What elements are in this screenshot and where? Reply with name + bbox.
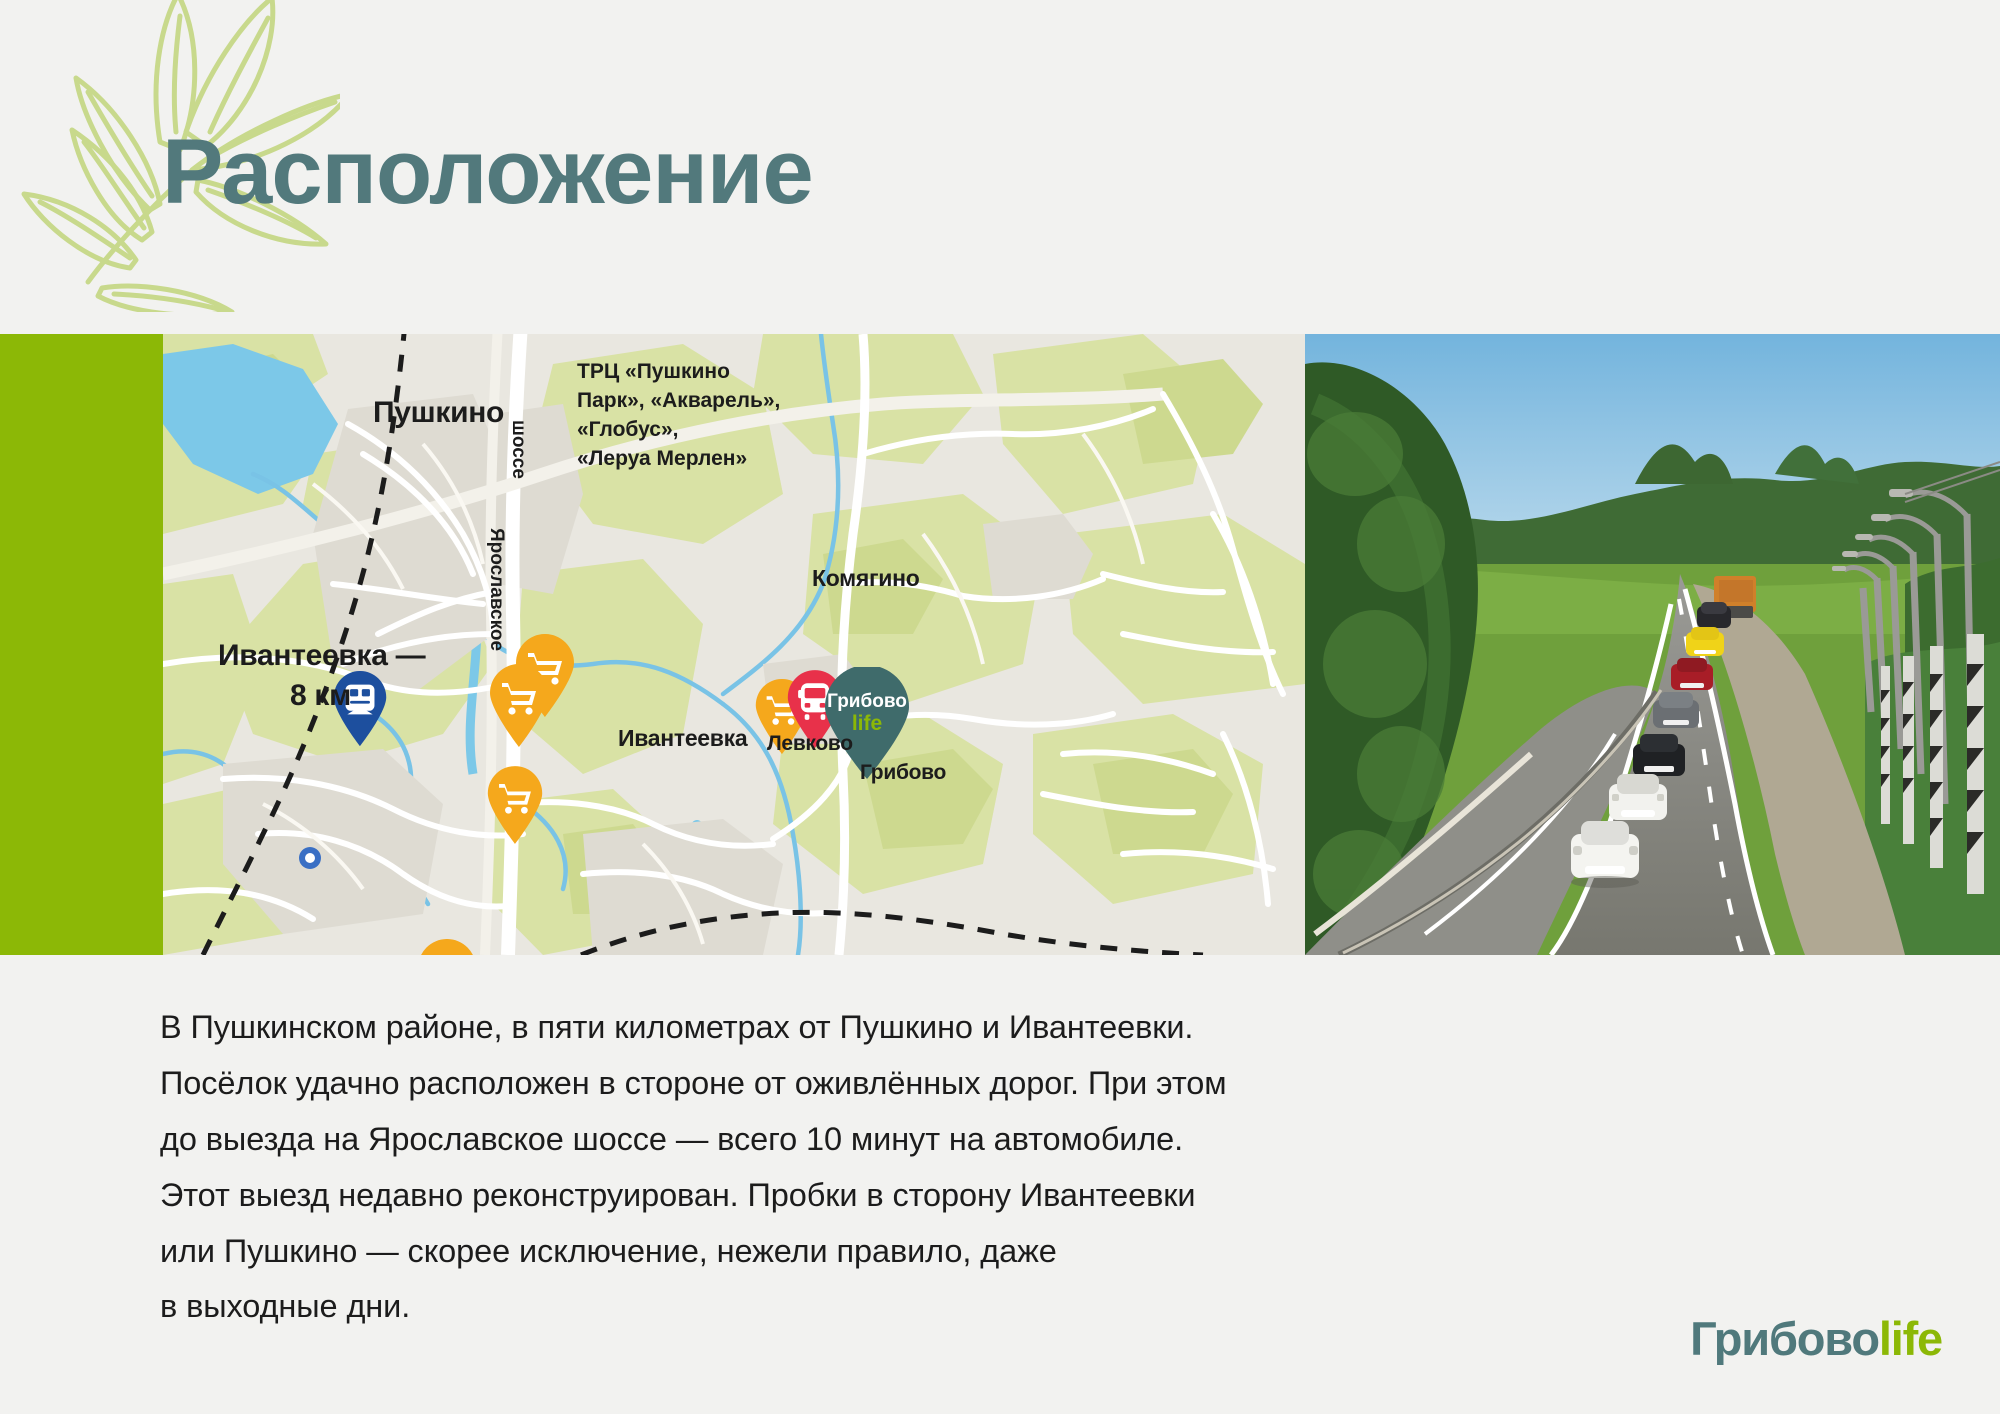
brand-logo-part2: life [1879,1312,1942,1365]
brand-logo-part1: Грибово [1690,1312,1879,1365]
car-red [1671,658,1713,690]
media-band: Грибово life Пушкино Ивантеевка — 8 км Л… [0,334,2000,955]
map-label-ivanteevka-distance-km: 8 км [290,679,351,713]
road-label-shosse: шоссе [507,420,529,479]
brand-pin-line1: Грибово [827,691,907,712]
car-yellow [1686,627,1724,656]
car-white-2 [1571,821,1639,888]
brand-logo: Грибовоlife [1690,1311,1942,1366]
map-poi-note-trc: ТРЦ «Пушкино Парк», «Акварель», «Глобус»… [577,358,780,474]
car-grey [1653,692,1699,728]
map-label-ivanteevka: Ивантеевка [618,725,747,752]
shopping-cart-pin-trc-b[interactable] [487,664,551,748]
map-label-ivanteevka-distance: Ивантеевка — [218,639,425,673]
map-label-gribovo: Грибово [860,761,946,785]
car-dark [1697,602,1731,628]
map-label-komyagino: Комягино [812,565,919,592]
location-map[interactable]: Грибово life Пушкино Ивантеевка — 8 км Л… [163,334,1305,955]
page-title: Расположение [162,126,813,218]
brand-pin-line2: life [852,712,882,735]
green-accent-bar [0,334,163,955]
shopping-cart-pin-shosse[interactable] [485,766,545,845]
page-header: Расположение [0,0,2000,334]
highway-photo [1305,334,2000,955]
map-label-levkovo: Левково [767,732,853,756]
car-black [1633,734,1685,776]
description-paragraph: В Пушкинском районе, в пяти километрах о… [160,1000,1580,1335]
shopping-cart-pin-ivanteevka-a[interactable] [415,939,479,955]
car-white-1 [1609,774,1667,820]
road-label-yaroslavskoe: Ярославское [485,528,507,651]
map-label-pushkino: Пушкино [373,396,504,430]
highway-photo-illustration [1305,334,2000,955]
